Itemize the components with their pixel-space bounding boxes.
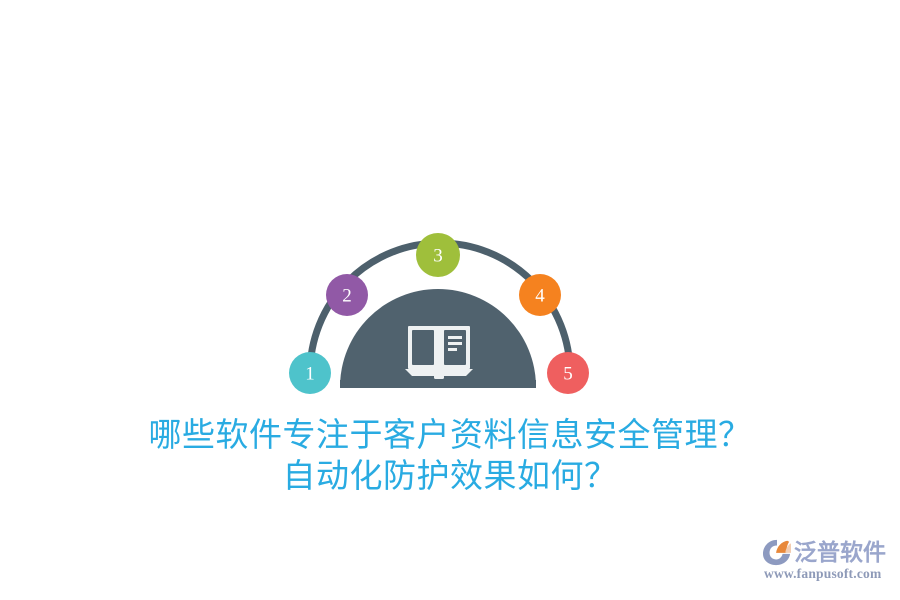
step-bubble-4[interactable]: 4	[519, 274, 561, 316]
headline-line-2: 自动化防护效果如何？	[0, 457, 900, 498]
step-number-4: 4	[535, 286, 545, 307]
fanpu-swoosh-logo-icon	[762, 538, 792, 566]
headline-block: 哪些软件专注于客户资料信息安全管理？ 自动化防护效果如何？	[0, 416, 900, 498]
step-number-2: 2	[342, 286, 352, 307]
step-bubble-1[interactable]: 1	[289, 352, 331, 394]
step-bubble-2[interactable]: 2	[326, 274, 368, 316]
brand-logo[interactable]: 泛普软件 www.fanpusoft.com	[762, 536, 894, 588]
five-step-semicircle-diagram: 1 2 3 4 5	[280, 222, 600, 402]
headline-line-1: 哪些软件专注于客户资料信息安全管理？	[0, 416, 900, 457]
open-book-icon	[405, 326, 473, 379]
step-number-1: 1	[305, 364, 315, 385]
dome-base	[340, 380, 536, 388]
logo-website-url: www.fanpusoft.com	[764, 566, 894, 582]
logo-top-row: 泛普软件	[762, 536, 894, 567]
step-bubble-3[interactable]: 3	[416, 233, 460, 277]
logo-brand-name: 泛普软件	[794, 538, 886, 566]
step-bubble-5[interactable]: 5	[547, 352, 589, 394]
page-canvas: 1 2 3 4 5 哪些软件专注于客户资料信息安全管理？ 自动化防护效果如何？	[0, 0, 900, 600]
step-number-3: 3	[433, 246, 443, 267]
step-number-5: 5	[563, 364, 573, 385]
